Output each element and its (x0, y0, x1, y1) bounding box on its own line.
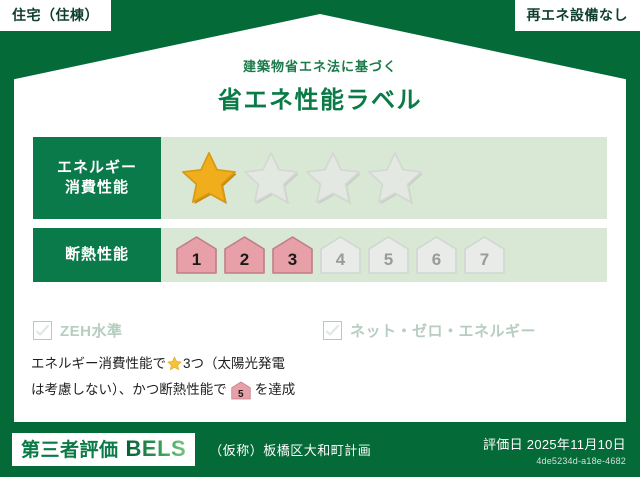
energy-label-line2: 消費性能 (65, 178, 129, 198)
description-stars-text: 3つ（太陽光発電 (183, 356, 285, 371)
grade-badge-filled: 3 (271, 235, 314, 275)
star-empty-icon (303, 149, 363, 207)
inline-star-icon (167, 355, 182, 378)
evaluation-id: 4de5234d-a18e-4682 (483, 456, 626, 466)
grade-badge-empty: 7 (463, 235, 506, 275)
achievement-description: エネルギー消費性能で 3つ（太陽光発電 は考慮しない）、かつ断熱性能で 5を達成 (31, 352, 609, 401)
grade-value: 4 (336, 250, 345, 270)
grade-value: 5 (384, 250, 393, 270)
description-part3: を達成 (255, 382, 296, 397)
energy-label-line1: エネルギー (57, 158, 137, 178)
grade-badge-empty: 4 (319, 235, 362, 275)
bels-jp-text: 第三者評価 (21, 441, 119, 460)
renewable-energy-badge: 再エネ設備なし (515, 0, 640, 31)
building-type-badge: 住宅（住棟） (0, 0, 111, 31)
project-name: （仮称）板橋区大和町計画 (209, 440, 371, 459)
grade-value: 3 (288, 250, 297, 270)
grade-value: 6 (432, 250, 441, 270)
star-empty-icon (365, 149, 425, 207)
energy-consumption-row: エネルギー 消費性能 (33, 137, 607, 219)
grade-badge-filled: 1 (175, 235, 218, 275)
energy-performance-label: 住宅（住棟） 再エネ設備なし 建築物省エネ法に基づく 省エネ性能ラベル エネルギ… (0, 0, 640, 477)
insulation-row: 断熱性能 1234567 (33, 228, 607, 282)
label-footer: 第三者評価 BELS （仮称）板橋区大和町計画 評価日 2025年11月10日 … (0, 422, 640, 477)
criterion-zeh-label: ZEH水準 (60, 320, 123, 341)
inline-grade-value: 5 (238, 389, 244, 400)
star-filled-icon (179, 149, 239, 207)
inline-grade-badge: 5 (230, 381, 252, 398)
star-empty-icon (241, 149, 301, 207)
grade-badge-filled: 2 (223, 235, 266, 275)
insulation-label-line1: 断熱性能 (65, 245, 129, 265)
grade-value: 2 (240, 250, 249, 270)
checkbox-unchecked-icon (33, 321, 52, 340)
criteria-list: ZEH水準 ネット・ゼロ・エネルギー (33, 320, 607, 341)
description-part1: エネルギー消費性能で (31, 356, 166, 371)
metric-rows: エネルギー 消費性能 断熱性能 1234567 (33, 137, 607, 291)
grade-badge-empty: 5 (367, 235, 410, 275)
insulation-grade-scale: 1234567 (161, 228, 607, 282)
description-part2: は考慮しない）、かつ断熱性能で (31, 382, 227, 397)
checkbox-unchecked-icon (323, 321, 342, 340)
evaluation-date: 評価日 2025年11月10日 (483, 434, 626, 453)
grade-value: 1 (192, 250, 201, 270)
criterion-zeh: ZEH水準 (33, 320, 323, 341)
grade-badge-empty: 6 (415, 235, 458, 275)
bels-certification-badge: 第三者評価 BELS (12, 433, 195, 466)
insulation-label: 断熱性能 (33, 228, 161, 282)
criterion-net-zero-label: ネット・ゼロ・エネルギー (350, 320, 536, 341)
criterion-net-zero: ネット・ゼロ・エネルギー (323, 320, 536, 341)
evaluation-info: 評価日 2025年11月10日 4de5234d-a18e-4682 (483, 434, 626, 466)
bels-en-text: BELS (126, 438, 187, 460)
grade-value: 7 (480, 250, 489, 270)
star-rating (161, 137, 607, 219)
energy-consumption-label: エネルギー 消費性能 (33, 137, 161, 219)
